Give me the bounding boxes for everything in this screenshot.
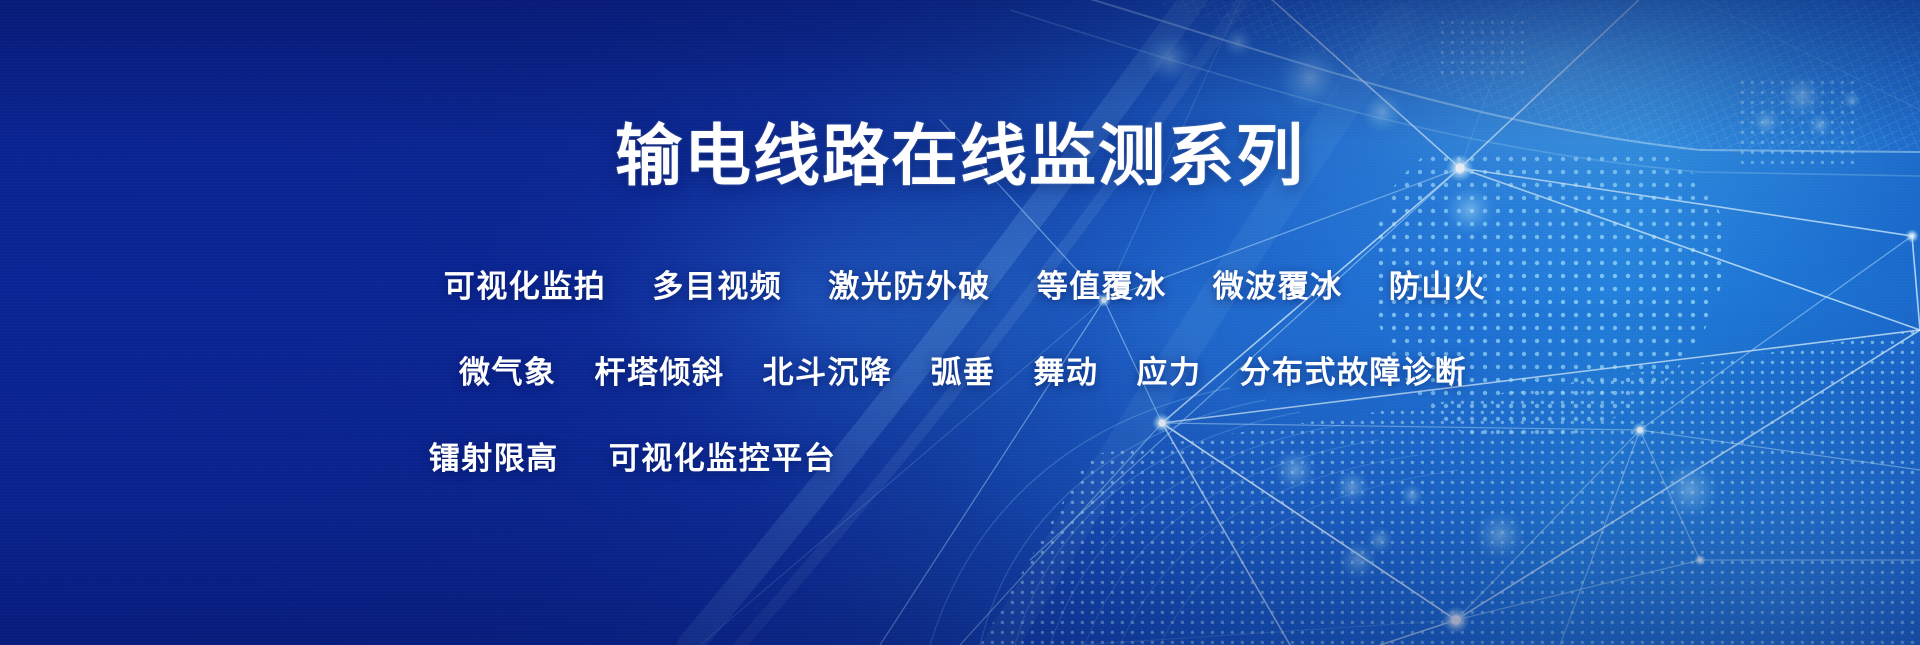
product-tag-row-2: 微气象 杆塔倾斜 北斗沉降 弧垂 舞动 应力 分布式故障诊断 — [0, 347, 1920, 392]
product-tag[interactable]: 弧垂 — [931, 347, 996, 392]
product-tag[interactable]: 应力 — [1137, 347, 1202, 392]
product-tag[interactable]: 镭射限高 — [429, 433, 559, 478]
product-tag[interactable]: 微波覆冰 — [1213, 261, 1343, 306]
product-tag[interactable]: 等值覆冰 — [1037, 261, 1167, 306]
product-tag[interactable]: 激光防外破 — [828, 261, 991, 306]
product-tag[interactable]: 可视化监拍 — [444, 261, 607, 306]
product-tag[interactable]: 可视化监控平台 — [609, 433, 837, 478]
product-tag[interactable]: 北斗沉降 — [763, 347, 893, 392]
product-tag[interactable]: 微气象 — [459, 347, 557, 392]
product-tag[interactable]: 杆塔倾斜 — [595, 347, 725, 392]
product-tag[interactable]: 多目视频 — [652, 261, 782, 306]
product-tag[interactable]: 舞动 — [1034, 347, 1099, 392]
product-tag-row-3: 镭射限高 可视化监控平台 — [0, 433, 1920, 478]
banner-content: 输电线路在线监测系列 可视化监拍 多目视频 激光防外破 等值覆冰 微波覆冰 防山… — [0, 0, 1920, 645]
product-tag[interactable]: 防山火 — [1389, 261, 1487, 306]
product-tag[interactable]: 分布式故障诊断 — [1240, 347, 1468, 392]
product-tag-row-1: 可视化监拍 多目视频 激光防外破 等值覆冰 微波覆冰 防山火 — [0, 261, 1920, 306]
page-title: 输电线路在线监测系列 — [0, 123, 1920, 190]
banner-root: 输电线路在线监测系列 可视化监拍 多目视频 激光防外破 等值覆冰 微波覆冰 防山… — [0, 0, 1920, 645]
